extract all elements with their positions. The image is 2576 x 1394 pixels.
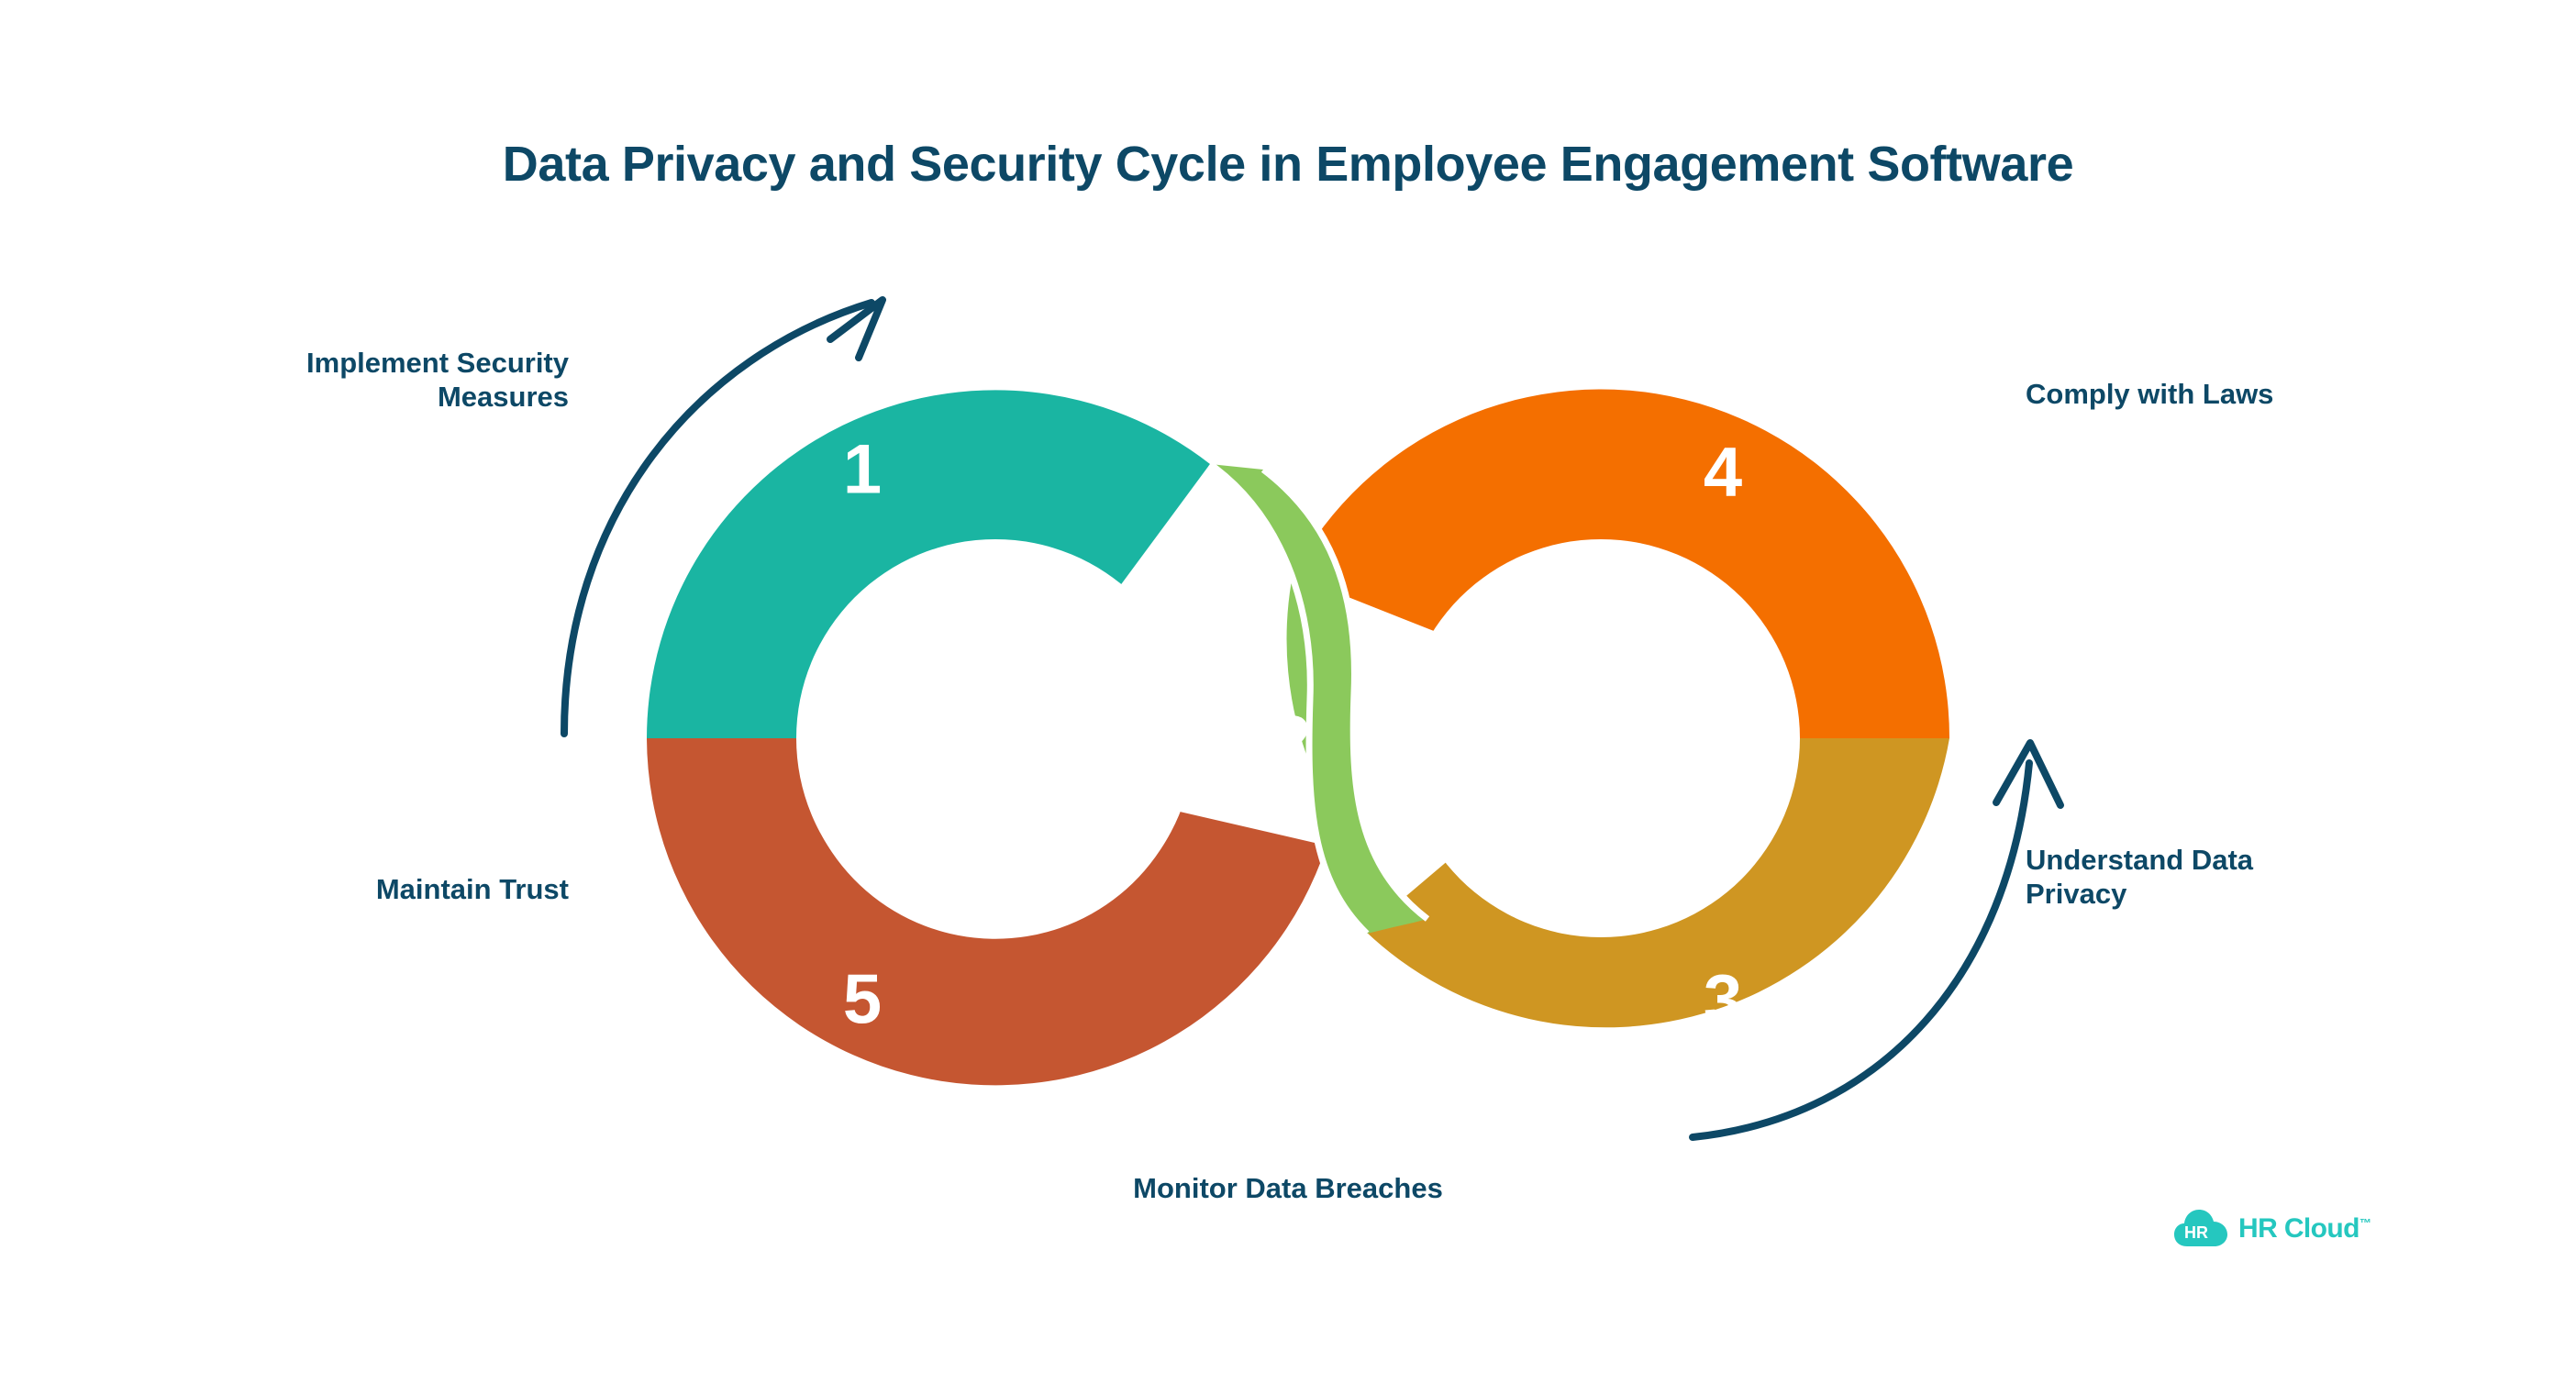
hr-cloud-mark-icon: HR: [2174, 1209, 2227, 1249]
label-understand-data-privacy: Understand Data Privacy: [2026, 844, 2457, 911]
segment-1-number: 1: [843, 431, 882, 509]
segment-4-number: 4: [1704, 434, 1742, 512]
label-implement-security-measures: Implement Security Measures: [83, 347, 569, 414]
segment-2-number: 2: [1272, 703, 1311, 780]
hr-cloud-trademark: ™: [2359, 1216, 2371, 1230]
label-monitor-data-breaches: Monitor Data Breaches: [875, 1172, 1701, 1206]
label-maintain-trust: Maintain Trust: [83, 873, 569, 907]
left-donut-hole: [796, 539, 1194, 937]
hr-cloud-wordmark-text: HR Cloud: [2238, 1213, 2359, 1244]
segment-5-number: 5: [843, 961, 882, 1039]
hr-cloud-logo[interactable]: HR HR Cloud™: [2174, 1209, 2371, 1249]
hr-cloud-mark-text: HR: [2184, 1223, 2208, 1242]
infographic-canvas: Data Privacy and Security Cycle in Emplo…: [0, 0, 2576, 1394]
segment-3-number: 3: [1704, 961, 1742, 1039]
hr-cloud-wordmark: HR Cloud™: [2238, 1213, 2371, 1245]
label-comply-with-laws: Comply with Laws: [2026, 378, 2576, 412]
right-donut-hole: [1402, 539, 1800, 937]
